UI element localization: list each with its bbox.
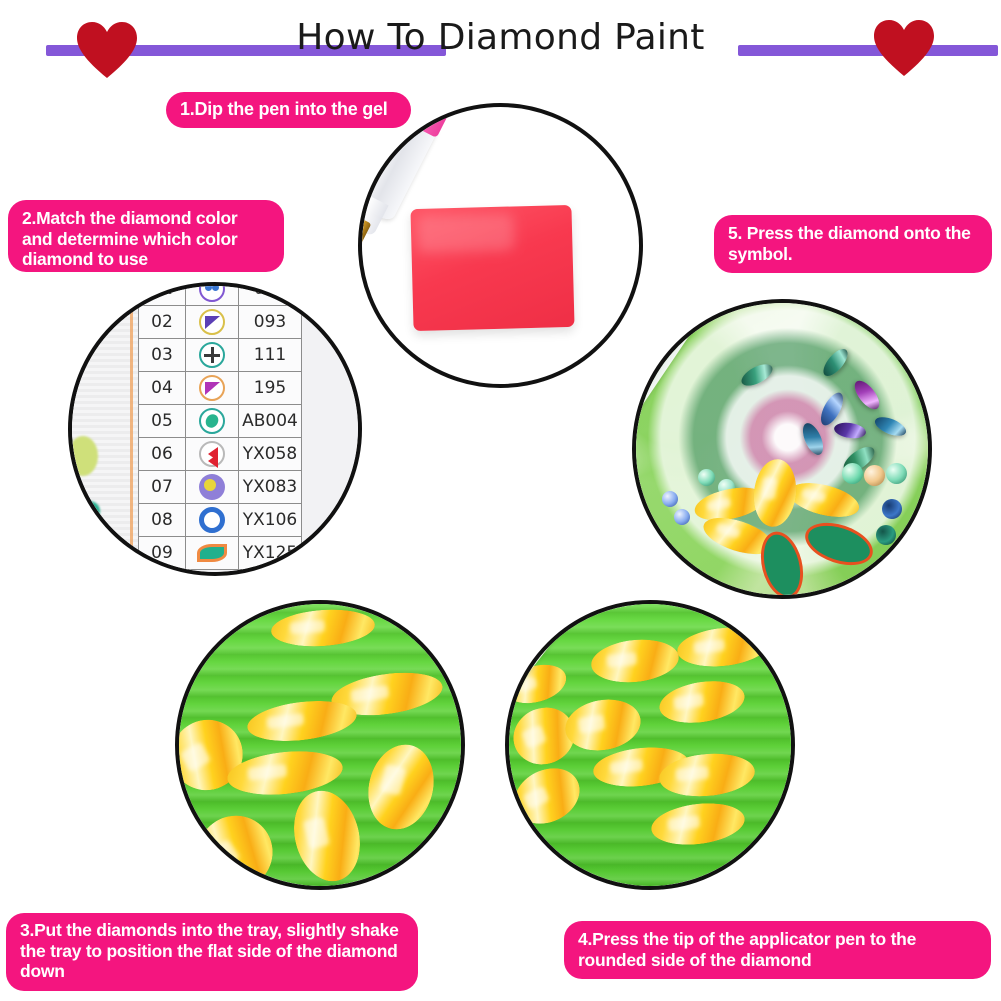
double-dot-icon: [199, 286, 225, 302]
diamond: [662, 491, 678, 507]
canvas-color-blob: [78, 501, 100, 521]
table-row: 04 195: [139, 372, 302, 405]
infographic-canvas: How To Diamond Paint 1.Dip the pen into …: [0, 0, 1001, 1001]
triangle-icon: [199, 375, 225, 401]
legend-number: 01: [139, 286, 186, 306]
legend-number: 02: [139, 306, 186, 339]
legend-code: YX106: [239, 504, 302, 537]
legend-number: 04: [139, 372, 186, 405]
step-4-caption: 4.Press the tip of the applicator pen to…: [564, 921, 991, 979]
legend-number: 09: [139, 537, 186, 570]
legend-number: 05: [139, 405, 186, 438]
symbol-legend-table: 01 02802 09303 11104 19505 AB00406 YX058…: [138, 286, 302, 570]
chevron-left-icon: [199, 441, 225, 467]
legend-number: 06: [139, 438, 186, 471]
table-row: 07 YX083: [139, 471, 302, 504]
legend-symbol: [186, 405, 239, 438]
legend-code: YX058: [239, 438, 302, 471]
leaf-icon: [197, 544, 227, 562]
diamond: [886, 463, 907, 484]
table-row: 02 093: [139, 306, 302, 339]
legend-symbol: [186, 504, 239, 537]
legend-symbol: [186, 306, 239, 339]
legend-symbol: [186, 372, 239, 405]
legend-symbol: [186, 471, 239, 504]
table-row: 08YX106: [139, 504, 302, 537]
table-row: 05 AB004: [139, 405, 302, 438]
diamond: [882, 499, 902, 519]
photo-pressing-onto-canvas: [632, 299, 932, 599]
diamond: [674, 509, 690, 525]
legend-number: 07: [139, 471, 186, 504]
diamond: [698, 469, 715, 486]
legend-code: 028: [239, 286, 302, 306]
legend-number: 08: [139, 504, 186, 537]
diamond: [876, 525, 896, 545]
legend-code: YX125: [239, 537, 302, 570]
diamond: [864, 465, 885, 486]
table-row: 01 028: [139, 286, 302, 306]
legend-code: AB004: [239, 405, 302, 438]
gel-pad: [410, 205, 574, 331]
photo-color-chart: 01 02802 09303 11104 19505 AB00406 YX058…: [68, 282, 362, 576]
step-2-caption: 2.Match the diamond color and determine …: [8, 200, 284, 272]
legend-code: 195: [239, 372, 302, 405]
filled-dot-icon: [199, 474, 225, 500]
table-row: 03 111: [139, 339, 302, 372]
legend-symbol: [186, 286, 239, 306]
table-row: 06 YX058: [139, 438, 302, 471]
photo-pen-picking-diamond: [505, 600, 795, 890]
legend-code: YX083: [239, 471, 302, 504]
table-row: 09YX125: [139, 537, 302, 570]
diamond: [842, 463, 863, 484]
photo-diamonds-in-tray: [175, 600, 465, 890]
step-5-caption: 5. Press the diamond onto the symbol.: [714, 215, 992, 273]
legend-symbol: [186, 339, 239, 372]
legend-code: 093: [239, 306, 302, 339]
legend-rows: 01 02802 09303 11104 19505 AB00406 YX058…: [139, 286, 302, 570]
page-title: How To Diamond Paint: [0, 17, 1001, 58]
legend-symbol: [186, 438, 239, 471]
ring-icon: [199, 507, 225, 533]
legend-symbol: [186, 537, 239, 570]
photo-pen-dipping-gel: [358, 103, 643, 388]
slash-oval-icon: [199, 408, 225, 434]
step-3-caption: 3.Put the diamonds into the tray, slight…: [6, 913, 418, 991]
legend-code: 111: [239, 339, 302, 372]
triangle-icon: [199, 309, 225, 335]
legend-number: 03: [139, 339, 186, 372]
plus-icon: [199, 342, 225, 368]
